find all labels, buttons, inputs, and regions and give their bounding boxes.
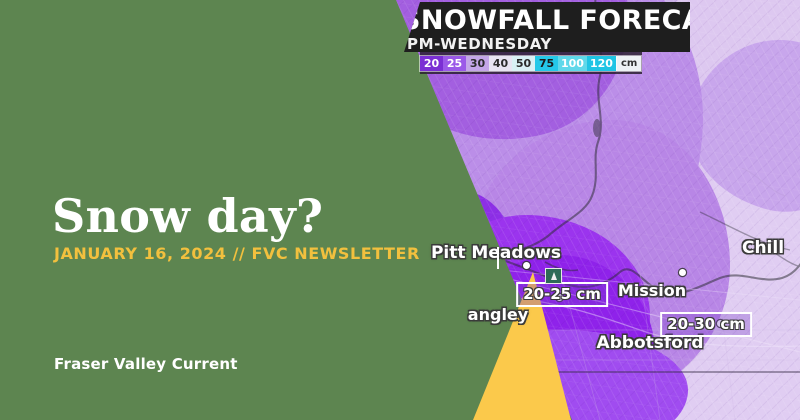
page-title: Snow day? bbox=[52, 189, 323, 243]
park-marker-icon bbox=[545, 268, 562, 284]
map-city-dot bbox=[679, 269, 686, 276]
map-header-bar: SNOWFALL FORECAST PM-WEDNESDAY bbox=[404, 2, 690, 52]
legend-stop-20: 20 bbox=[420, 56, 443, 71]
newsletter-dateline: JANUARY 16, 2024 // FVC NEWSLETTER bbox=[54, 244, 420, 263]
map-city-label: angley bbox=[468, 305, 528, 324]
snowfall-amount-callout: 20-25 cm bbox=[516, 282, 608, 307]
legend-unit-label: cm bbox=[616, 56, 641, 71]
legend-stop-30: 30 bbox=[466, 56, 489, 71]
map-city-label: Mission bbox=[618, 281, 686, 300]
legend-stop-40: 40 bbox=[489, 56, 512, 71]
legend-stop-75: 75 bbox=[535, 56, 558, 71]
legend-stop-25: 25 bbox=[443, 56, 466, 71]
map-header-subtitle: PM-WEDNESDAY bbox=[407, 35, 552, 52]
snowfall-legend-colorbar: 202530405075100120cm bbox=[419, 55, 642, 72]
map-city-label: Chill bbox=[742, 238, 784, 258]
publication-name: Fraser Valley Current bbox=[54, 355, 238, 373]
map-city-dot bbox=[523, 262, 530, 269]
coastline-tick-mark bbox=[497, 247, 499, 269]
newsletter-hero-graphic: SNOWFALL FORECAST PM-WEDNESDAY 202530405… bbox=[0, 0, 800, 420]
legend-stop-50: 50 bbox=[512, 56, 535, 71]
snowfall-amount-callout: 20-30 cm bbox=[660, 312, 752, 337]
map-header-title: SNOWFALL FORECAST bbox=[404, 5, 690, 36]
map-city-label: Pitt Meadows bbox=[431, 243, 561, 263]
legend-stop-100: 100 bbox=[558, 56, 587, 71]
legend-stop-120: 120 bbox=[587, 56, 616, 71]
